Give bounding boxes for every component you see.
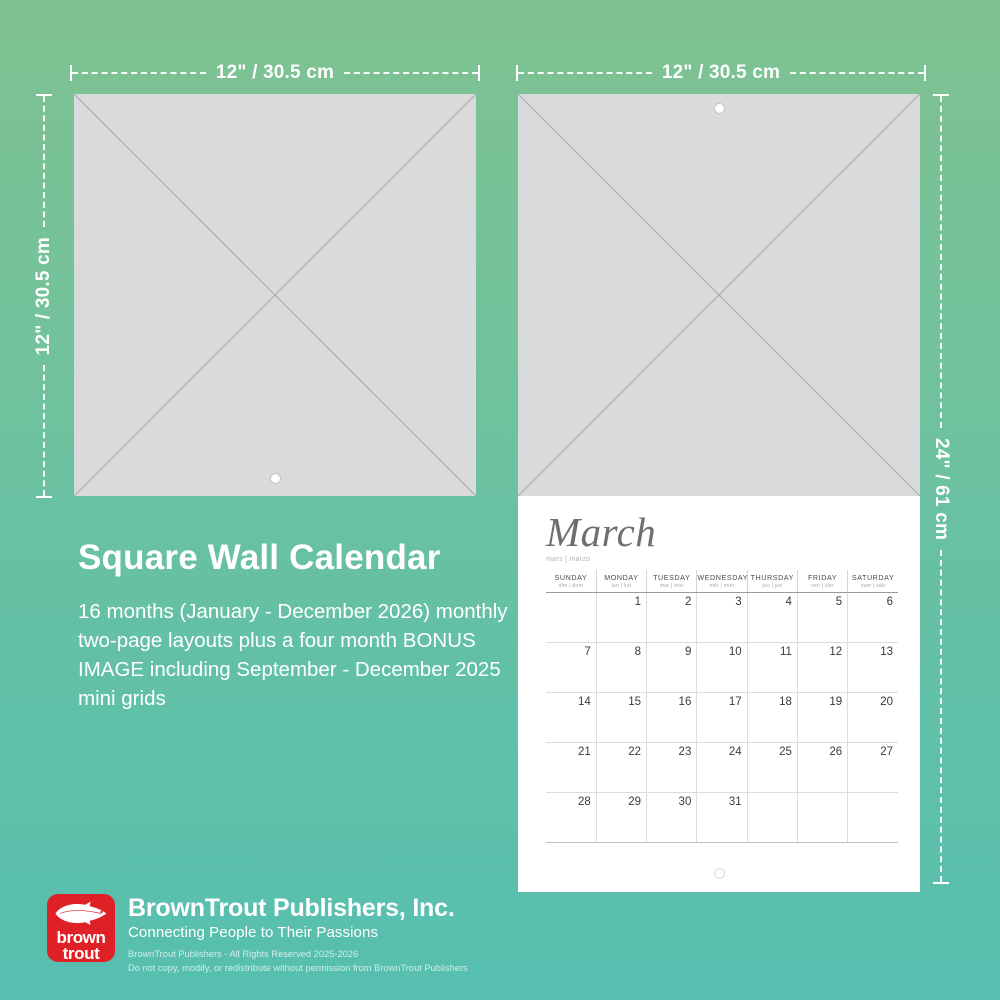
publisher-tagline: Connecting People to Their Passions <box>128 924 468 941</box>
left-image-panel <box>74 94 476 496</box>
dimension-rule-top-left: 12" / 30.5 cm <box>70 62 480 84</box>
rule-dash <box>344 72 478 74</box>
calendar-day-cell[interactable]: 2 <box>647 593 697 643</box>
right-image-panel <box>518 94 920 496</box>
weekday-name-translated: mer | miér <box>697 583 746 589</box>
calendar-day-cell[interactable]: 19 <box>797 693 847 743</box>
rule-dash <box>790 72 924 74</box>
calendar-weekday-header: TUESDAYmar | mar <box>647 570 697 593</box>
rule-dash <box>940 550 942 882</box>
calendar-day-cell[interactable]: 14 <box>546 693 596 743</box>
rule-dash <box>940 96 942 428</box>
calendar-day-cell[interactable]: 15 <box>596 693 646 743</box>
calendar-day-cell[interactable]: 29 <box>596 793 646 843</box>
browntrout-logo: brown trout <box>47 894 115 962</box>
dimension-label-left-vertical: 12" / 30.5 cm <box>33 227 55 365</box>
calendar-day-cell[interactable]: 22 <box>596 743 646 793</box>
footer: brown trout BrownTrout Publishers, Inc. … <box>47 894 468 975</box>
calendar-day-cell[interactable]: 31 <box>697 793 747 843</box>
dimension-rule-right-vertical: 24" / 61 cm <box>930 94 952 884</box>
product-description: 16 months (January - December 2026) mont… <box>78 597 533 713</box>
calendar-weekday-header-row: SUNDAYdim | domMONDAYlun | lunTUESDAYmar… <box>546 570 898 593</box>
weekday-name: FRIDAY <box>798 573 847 582</box>
calendar-day-cell[interactable]: 24 <box>697 743 747 793</box>
weekday-name-translated: ven | vier <box>798 583 847 589</box>
logo-word-trout: trout <box>47 945 115 962</box>
calendar-grid: SUNDAYdim | domMONDAYlun | lunTUESDAYmar… <box>546 570 898 843</box>
calendar-day-cell[interactable]: 25 <box>747 743 797 793</box>
hole-punch-icon <box>714 103 725 114</box>
weekday-name-translated: mar | mar <box>647 583 696 589</box>
calendar-empty-cell <box>747 793 797 843</box>
calendar-day-cell[interactable]: 6 <box>848 593 898 643</box>
weekday-name-translated: jeu | jue <box>748 583 797 589</box>
weekday-name-translated: lun | lun <box>597 583 646 589</box>
legal-notice: BrownTrout Publishers - All Rights Reser… <box>128 948 468 975</box>
calendar-weekday-header: THURSDAYjeu | jue <box>747 570 797 593</box>
calendar-week-row: 21222324252627 <box>546 743 898 793</box>
calendar-weekday-header: SATURDAYsam | sáb <box>848 570 898 593</box>
hole-punch-icon <box>714 868 725 879</box>
calendar-week-row: 78910111213 <box>546 643 898 693</box>
logo-word-brown: brown <box>47 929 115 946</box>
calendar-day-cell[interactable]: 30 <box>647 793 697 843</box>
dimension-label-top-left: 12" / 30.5 cm <box>206 62 344 84</box>
dimension-label-right-vertical: 24" / 61 cm <box>930 428 952 550</box>
calendar-week-row: 123456 <box>546 593 898 643</box>
rule-cap-end <box>933 882 949 884</box>
calendar-day-cell[interactable]: 9 <box>647 643 697 693</box>
calendar-day-cell[interactable]: 10 <box>697 643 747 693</box>
calendar-weekday-header: MONDAYlun | lun <box>596 570 646 593</box>
rule-cap-end <box>478 65 480 81</box>
dimension-label-top-right: 12" / 30.5 cm <box>652 62 790 84</box>
weekday-name: THURSDAY <box>748 573 797 582</box>
calendar-day-cell[interactable]: 1 <box>596 593 646 643</box>
calendar-empty-cell <box>848 793 898 843</box>
weekday-name: SATURDAY <box>848 573 898 582</box>
weekday-name: WEDNESDAY <box>697 573 746 582</box>
calendar-day-cell[interactable]: 5 <box>797 593 847 643</box>
rule-dash <box>43 96 45 227</box>
weekday-name: SUNDAY <box>546 573 596 582</box>
calendar-day-cell[interactable]: 7 <box>546 643 596 693</box>
calendar-day-cell[interactable]: 28 <box>546 793 596 843</box>
rule-cap-end <box>924 65 926 81</box>
calendar-weekday-header: WEDNESDAYmer | miér <box>697 570 747 593</box>
publisher-name: BrownTrout Publishers, Inc. <box>128 895 468 923</box>
calendar-day-cell[interactable]: 26 <box>797 743 847 793</box>
calendar-month-title: March <box>546 512 898 553</box>
calendar-day-cell[interactable]: 27 <box>848 743 898 793</box>
legal-line-1: BrownTrout Publishers - All Rights Reser… <box>128 948 468 961</box>
calendar-week-row: 14151617181920 <box>546 693 898 743</box>
weekday-name-translated: dim | dom <box>546 583 596 589</box>
page-title: Square Wall Calendar <box>78 538 441 578</box>
weekday-name: TUESDAY <box>647 573 696 582</box>
calendar-month-subtitle: mars | marzo <box>546 556 898 563</box>
calendar-day-cell[interactable]: 23 <box>647 743 697 793</box>
calendar-empty-cell <box>546 593 596 643</box>
dimension-rule-top-right: 12" / 30.5 cm <box>516 62 926 84</box>
calendar-day-cell[interactable]: 11 <box>747 643 797 693</box>
rule-cap-end <box>36 496 52 498</box>
calendar-day-cell[interactable]: 3 <box>697 593 747 643</box>
legal-line-2: Do not copy, modify, or redistribute wit… <box>128 962 468 975</box>
placeholder-cross-icon <box>74 94 476 496</box>
rule-dash <box>518 72 652 74</box>
calendar-day-cell[interactable]: 4 <box>747 593 797 643</box>
calendar-day-cell[interactable]: 17 <box>697 693 747 743</box>
placeholder-cross-icon <box>518 94 920 496</box>
calendar-page: March mars | marzo SUNDAYdim | domMONDAY… <box>518 496 920 892</box>
calendar-day-cell[interactable]: 21 <box>546 743 596 793</box>
rule-dash <box>72 72 206 74</box>
hole-punch-icon <box>270 473 281 484</box>
calendar-day-cell[interactable]: 13 <box>848 643 898 693</box>
calendar-weekday-header: FRIDAYven | vier <box>797 570 847 593</box>
calendar-week-row: 28293031 <box>546 793 898 843</box>
calendar-day-cell[interactable]: 12 <box>797 643 847 693</box>
trout-fish-icon <box>53 900 109 926</box>
calendar-day-cell[interactable]: 8 <box>596 643 646 693</box>
calendar-day-cell[interactable]: 20 <box>848 693 898 743</box>
calendar-weekday-header: SUNDAYdim | dom <box>546 570 596 593</box>
weekday-name-translated: sam | sáb <box>848 583 898 589</box>
weekday-name: MONDAY <box>597 573 646 582</box>
rule-dash <box>43 365 45 496</box>
calendar-day-cell[interactable]: 16 <box>647 693 697 743</box>
dimension-rule-left-vertical: 12" / 30.5 cm <box>33 94 55 498</box>
calendar-day-cell[interactable]: 18 <box>747 693 797 743</box>
calendar-empty-cell <box>797 793 847 843</box>
